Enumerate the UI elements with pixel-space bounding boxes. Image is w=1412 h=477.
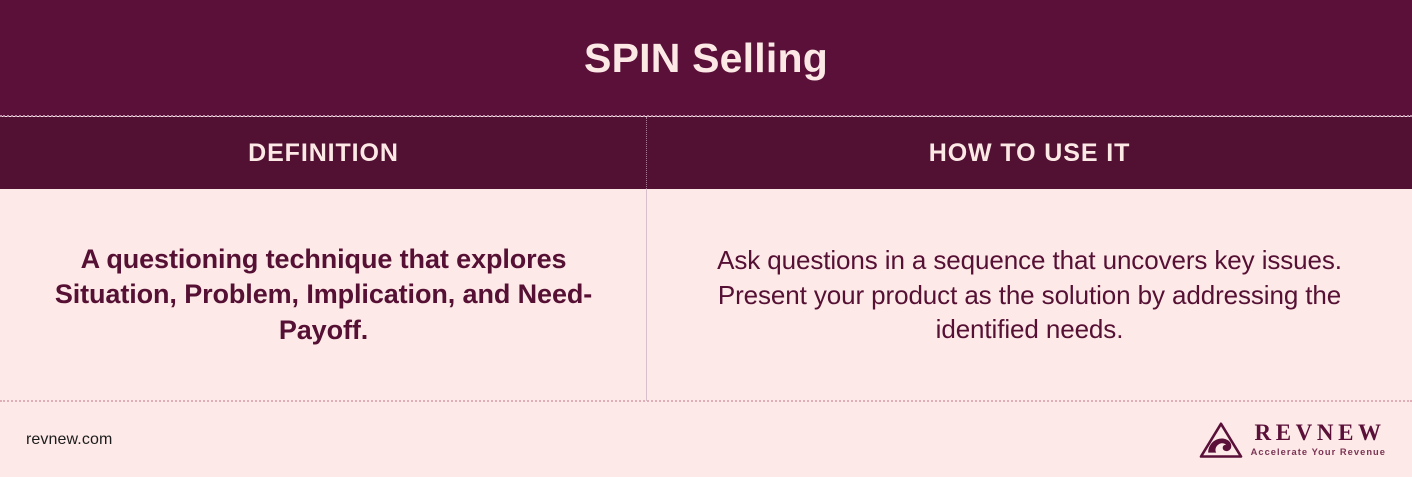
column-header-label: DEFINITION <box>248 141 399 166</box>
card-footer: revnew.com REVNEW Accelerate Your Revenu… <box>0 402 1412 477</box>
logo-tagline: Accelerate Your Revenue <box>1250 448 1386 457</box>
body-column-divider <box>646 189 647 401</box>
how-to-use-it-cell: Ask questions in a sequence that uncover… <box>647 189 1412 401</box>
definition-cell: A questioning technique that explores Si… <box>0 189 647 401</box>
logo-name: REVNEW <box>1250 421 1386 444</box>
triangle-wave-icon <box>1199 421 1243 459</box>
logo-wordmark: REVNEW Accelerate Your Revenue <box>1250 421 1386 457</box>
title-band: SPIN Selling <box>0 0 1412 116</box>
spin-selling-card: SPIN Selling DEFINITION HOW TO USE IT A … <box>0 0 1412 477</box>
how-to-use-it-text: Ask questions in a sequence that uncover… <box>703 243 1356 347</box>
column-header-row: DEFINITION HOW TO USE IT <box>0 117 1412 189</box>
column-header-label: HOW TO USE IT <box>929 141 1131 166</box>
revnew-logo: REVNEW Accelerate Your Revenue <box>1199 421 1386 459</box>
page-title: SPIN Selling <box>584 38 828 79</box>
column-header-divider <box>646 117 647 189</box>
site-url: revnew.com <box>26 431 112 449</box>
definition-text: A questioning technique that explores Si… <box>30 242 617 347</box>
column-header-how-to-use-it: HOW TO USE IT <box>647 117 1412 189</box>
column-header-definition: DEFINITION <box>0 117 647 189</box>
card-body: A questioning technique that explores Si… <box>0 189 1412 401</box>
